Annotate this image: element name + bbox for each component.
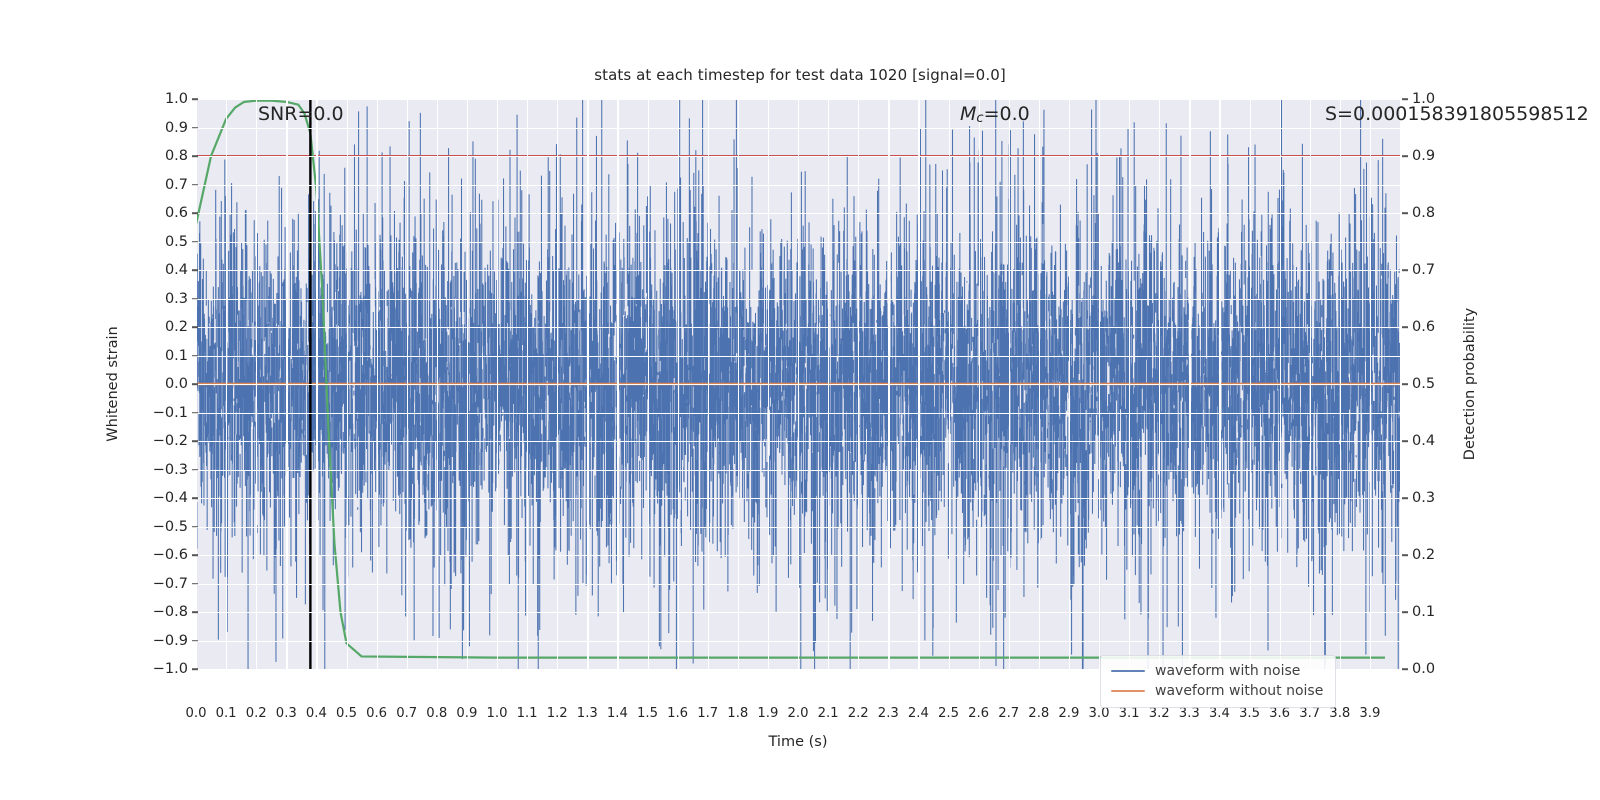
x-tick: 2.5	[938, 706, 959, 721]
gridline-vertical	[888, 99, 889, 669]
gridline-vertical	[1340, 99, 1341, 669]
gridline-vertical	[1280, 99, 1281, 669]
legend-entry[interactable]: waveform with noise	[1111, 661, 1323, 681]
tick-mark	[1402, 668, 1408, 670]
chart-title: stats at each timestep for test data 102…	[0, 66, 1600, 84]
y-tick-left: −1.0	[153, 661, 188, 677]
y-tick-left: −0.5	[153, 519, 188, 535]
x-tick: 1.0	[487, 706, 508, 721]
gridline-vertical	[1069, 99, 1070, 669]
snr-annotation: SNR=0.0	[258, 103, 344, 125]
gridline-vertical	[587, 99, 588, 669]
gridline-vertical	[858, 99, 859, 669]
gridline-vertical	[377, 99, 378, 669]
x-tick: 3.4	[1209, 706, 1230, 721]
x-tick: 0.5	[336, 706, 357, 721]
x-tick: 0.3	[276, 706, 297, 721]
x-tick: 3.9	[1359, 706, 1380, 721]
gridline-vertical	[497, 99, 498, 669]
x-tick: 3.6	[1269, 706, 1290, 721]
y-tick-left: −0.3	[153, 462, 188, 478]
gridline-vertical	[1219, 99, 1220, 669]
gridline-vertical	[467, 99, 468, 669]
gridline-vertical	[979, 99, 980, 669]
gridline-vertical	[1250, 99, 1251, 669]
y-tick-left: −0.7	[153, 576, 188, 592]
tick-mark	[192, 640, 198, 642]
x-tick: 1.1	[517, 706, 538, 721]
gridline-vertical	[316, 99, 317, 669]
tick-mark	[192, 583, 198, 585]
x-tick: 2.2	[848, 706, 869, 721]
gridline-vertical	[286, 99, 287, 669]
y-tick-left: 0.2	[165, 319, 188, 335]
tick-mark	[192, 127, 198, 129]
tick-mark	[192, 497, 198, 499]
x-tick: 3.1	[1119, 706, 1140, 721]
tick-mark	[192, 269, 198, 271]
y-tick-right: 0.3	[1412, 490, 1435, 506]
gridline-vertical	[347, 99, 348, 669]
tick-mark	[1402, 326, 1408, 328]
tick-mark	[192, 383, 198, 385]
x-tick: 0.0	[186, 706, 207, 721]
legend: waveform with noisewaveform without nois…	[1100, 655, 1336, 708]
gridline-vertical	[949, 99, 950, 669]
tick-mark	[192, 326, 198, 328]
gridline-vertical	[1129, 99, 1130, 669]
figure-canvas: stats at each timestep for test data 102…	[0, 0, 1600, 800]
y-tick-left: 0.7	[165, 177, 188, 193]
x-tick: 3.7	[1299, 706, 1320, 721]
gridline-vertical	[798, 99, 799, 669]
x-tick: 3.2	[1149, 706, 1170, 721]
tick-mark	[1402, 98, 1408, 100]
stat-annotation: S=0.000158391805598512	[1325, 103, 1589, 125]
x-tick: 1.2	[547, 706, 568, 721]
tick-mark	[1402, 497, 1408, 499]
tick-mark	[1402, 440, 1408, 442]
x-tick: 0.9	[456, 706, 477, 721]
y-tick-right: 0.2	[1412, 547, 1435, 563]
x-tick: 1.8	[727, 706, 748, 721]
x-tick: 1.3	[577, 706, 598, 721]
gridline-vertical	[828, 99, 829, 669]
x-tick: 2.6	[968, 706, 989, 721]
x-tick: 0.1	[216, 706, 237, 721]
tick-mark	[1402, 383, 1408, 385]
x-tick: 2.7	[998, 706, 1019, 721]
tick-mark	[1402, 212, 1408, 214]
legend-label: waveform with noise	[1155, 663, 1300, 679]
x-tick: 3.3	[1179, 706, 1200, 721]
x-tick: 0.7	[396, 706, 417, 721]
tick-mark	[192, 355, 198, 357]
y-tick-left: 0.1	[165, 348, 188, 364]
x-tick: 2.3	[878, 706, 899, 721]
plot-area	[196, 99, 1400, 669]
tick-mark	[192, 440, 198, 442]
y-tick-right: 0.8	[1412, 205, 1435, 221]
x-tick: 2.1	[818, 706, 839, 721]
y-tick-left: −0.6	[153, 547, 188, 563]
legend-color-swatch	[1111, 670, 1145, 672]
tick-mark	[1402, 155, 1408, 157]
tick-mark	[1402, 554, 1408, 556]
gridline-vertical	[648, 99, 649, 669]
gridline-vertical	[1039, 99, 1040, 669]
x-tick: 0.4	[306, 706, 327, 721]
y-axis-right-label: Detection probability	[1462, 308, 1478, 460]
gridline-vertical	[678, 99, 679, 669]
x-tick: 1.9	[757, 706, 778, 721]
tick-mark	[192, 212, 198, 214]
x-tick: 2.0	[788, 706, 809, 721]
tick-mark	[192, 554, 198, 556]
tick-mark	[1402, 269, 1408, 271]
tick-mark	[192, 184, 198, 186]
y-tick-left: −0.2	[153, 433, 188, 449]
gridline-vertical	[738, 99, 739, 669]
gridlines	[196, 99, 1400, 669]
x-tick: 3.8	[1329, 706, 1350, 721]
gridline-vertical	[1370, 99, 1371, 669]
x-tick: 1.4	[607, 706, 628, 721]
y-tick-left: 0.4	[165, 262, 188, 278]
legend-label: waveform without noise	[1155, 683, 1323, 699]
gridline-vertical	[407, 99, 408, 669]
tick-mark	[192, 668, 198, 670]
gridline-vertical	[226, 99, 227, 669]
tick-mark	[1402, 611, 1408, 613]
y-tick-right: 0.5	[1412, 376, 1435, 392]
tick-mark	[192, 98, 198, 100]
y-tick-right: 0.1	[1412, 604, 1435, 620]
y-tick-left: 0.6	[165, 205, 188, 221]
gridline-vertical	[708, 99, 709, 669]
x-tick: 0.2	[246, 706, 267, 721]
tick-mark	[192, 469, 198, 471]
gridline-vertical	[527, 99, 528, 669]
y-tick-left: 0.3	[165, 291, 188, 307]
x-tick: 1.7	[697, 706, 718, 721]
tick-mark	[192, 611, 198, 613]
x-tick: 2.4	[908, 706, 929, 721]
gridline-vertical	[1310, 99, 1311, 669]
y-tick-right: 0.7	[1412, 262, 1435, 278]
x-tick: 2.9	[1058, 706, 1079, 721]
gridline-vertical	[256, 99, 257, 669]
chirp-mass-symbol: M	[960, 103, 976, 125]
y-axis-left-label: Whitened strain	[105, 326, 121, 441]
tick-mark	[192, 526, 198, 528]
x-tick: 3.5	[1239, 706, 1260, 721]
gridline-vertical	[918, 99, 919, 669]
x-tick: 0.8	[426, 706, 447, 721]
chirp-mass-annotation: Mc=0.0	[960, 103, 1030, 126]
y-tick-left: 0.9	[165, 120, 188, 136]
x-tick: 0.6	[366, 706, 387, 721]
chirp-mass-subscript: c	[976, 111, 983, 126]
y-tick-right: 0.6	[1412, 319, 1435, 335]
gridline-vertical	[1099, 99, 1100, 669]
y-tick-left: −0.1	[153, 405, 188, 421]
tick-mark	[192, 155, 198, 157]
gridline-vertical	[617, 99, 618, 669]
x-tick: 3.0	[1089, 706, 1110, 721]
x-tick: 1.6	[667, 706, 688, 721]
y-tick-right: 0.9	[1412, 148, 1435, 164]
gridline-vertical	[557, 99, 558, 669]
x-tick: 2.8	[1028, 706, 1049, 721]
gridline-vertical	[437, 99, 438, 669]
tick-mark	[192, 298, 198, 300]
legend-entry[interactable]: waveform without noise	[1111, 681, 1323, 701]
gridline-vertical	[1009, 99, 1010, 669]
x-tick: 1.5	[637, 706, 658, 721]
y-tick-left: −0.8	[153, 604, 188, 620]
y-tick-left: 0.8	[165, 148, 188, 164]
y-tick-right: 0.0	[1412, 661, 1435, 677]
y-tick-left: −0.9	[153, 633, 188, 649]
y-tick-left: −0.4	[153, 490, 188, 506]
y-tick-left: 0.5	[165, 234, 188, 250]
tick-mark	[192, 241, 198, 243]
x-axis-label: Time (s)	[769, 734, 828, 750]
y-tick-right: 0.4	[1412, 433, 1435, 449]
gridline-vertical	[768, 99, 769, 669]
y-tick-left: 1.0	[165, 91, 188, 107]
tick-mark	[192, 412, 198, 414]
chirp-mass-value: =0.0	[984, 103, 1030, 125]
gridline-vertical	[1159, 99, 1160, 669]
legend-color-swatch	[1111, 690, 1145, 692]
gridline-vertical	[1189, 99, 1190, 669]
y-tick-left: 0.0	[165, 376, 188, 392]
